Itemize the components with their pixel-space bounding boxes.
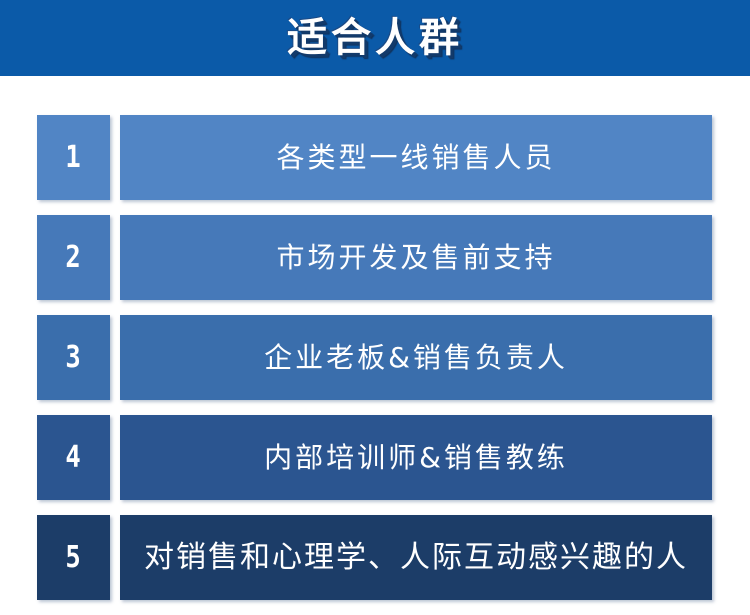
list-item[interactable]: 4 内部培训师&销售教练 [37, 415, 712, 500]
item-number-box: 3 [37, 315, 110, 400]
item-label-box: 市场开发及售前支持 [120, 215, 712, 300]
item-number: 5 [66, 543, 81, 573]
header-banner: 适合人群 [0, 0, 750, 76]
item-number: 1 [66, 143, 81, 173]
item-number-box: 2 [37, 215, 110, 300]
list-item[interactable]: 1 各类型一线销售人员 [37, 115, 712, 200]
item-label-box: 对销售和心理学、人际互动感兴趣的人 [120, 515, 712, 600]
item-number: 3 [66, 343, 81, 373]
page-title: 适合人群 [287, 18, 463, 58]
list-item[interactable]: 3 企业老板&销售负责人 [37, 315, 712, 400]
item-label: 内部培训师&销售教练 [264, 444, 568, 472]
list-item[interactable]: 5 对销售和心理学、人际互动感兴趣的人 [37, 515, 712, 600]
item-number: 2 [66, 243, 81, 273]
item-label: 市场开发及售前支持 [276, 244, 555, 272]
item-label-box: 内部培训师&销售教练 [120, 415, 712, 500]
item-number-box: 5 [37, 515, 110, 600]
audience-list: 1 各类型一线销售人员 2 市场开发及售前支持 3 企业老板&销售负责人 [0, 76, 750, 615]
item-number: 4 [66, 443, 81, 473]
item-label: 对销售和心理学、人际互动感兴趣的人 [144, 543, 688, 573]
item-number-box: 4 [37, 415, 110, 500]
item-label: 企业老板&销售负责人 [264, 344, 568, 372]
item-number-box: 1 [37, 115, 110, 200]
item-label-box: 各类型一线销售人员 [120, 115, 712, 200]
item-label: 各类型一线销售人员 [276, 144, 555, 172]
audience-infographic: 适合人群 1 各类型一线销售人员 2 市场开发及售前支持 3 企业老板&销售负责 [0, 0, 750, 615]
list-item[interactable]: 2 市场开发及售前支持 [37, 215, 712, 300]
item-label-box: 企业老板&销售负责人 [120, 315, 712, 400]
